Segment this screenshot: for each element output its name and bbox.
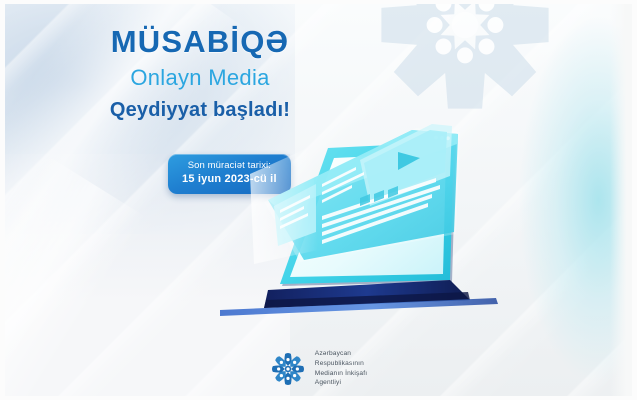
window-glow bbox=[250, 146, 318, 264]
agency-logo-line-1: Azərbaycan bbox=[315, 349, 367, 359]
poster-canvas: MÜSABİQƏ Onlayn Media Qeydiyyat başladı!… bbox=[5, 4, 632, 396]
agency-logo: Azərbaycan Respublikasının Medianın İnki… bbox=[5, 349, 632, 388]
page-subtitle: Onlayn Media bbox=[5, 64, 395, 92]
agency-logo-line-4: Agentliyi bbox=[315, 378, 367, 388]
agency-ornament-watermark-icon bbox=[370, 4, 560, 120]
page-title: MÜSABİQƏ bbox=[5, 26, 395, 59]
agency-logo-line-2: Respublikasının bbox=[315, 359, 367, 369]
laptop-illustration bbox=[260, 114, 590, 344]
poster-frame: MÜSABİQƏ Onlayn Media Qeydiyyat başladı!… bbox=[0, 0, 637, 400]
background-right-edge-fade bbox=[610, 4, 632, 396]
agency-logo-line-3: Medianın İnkişafı bbox=[315, 369, 367, 379]
agency-logo-text: Azərbaycan Respublikasının Medianın İnki… bbox=[315, 349, 367, 388]
agency-logo-mark-icon bbox=[270, 351, 306, 387]
headline-block: MÜSABİQƏ Onlayn Media Qeydiyyat başladı! bbox=[5, 26, 395, 122]
